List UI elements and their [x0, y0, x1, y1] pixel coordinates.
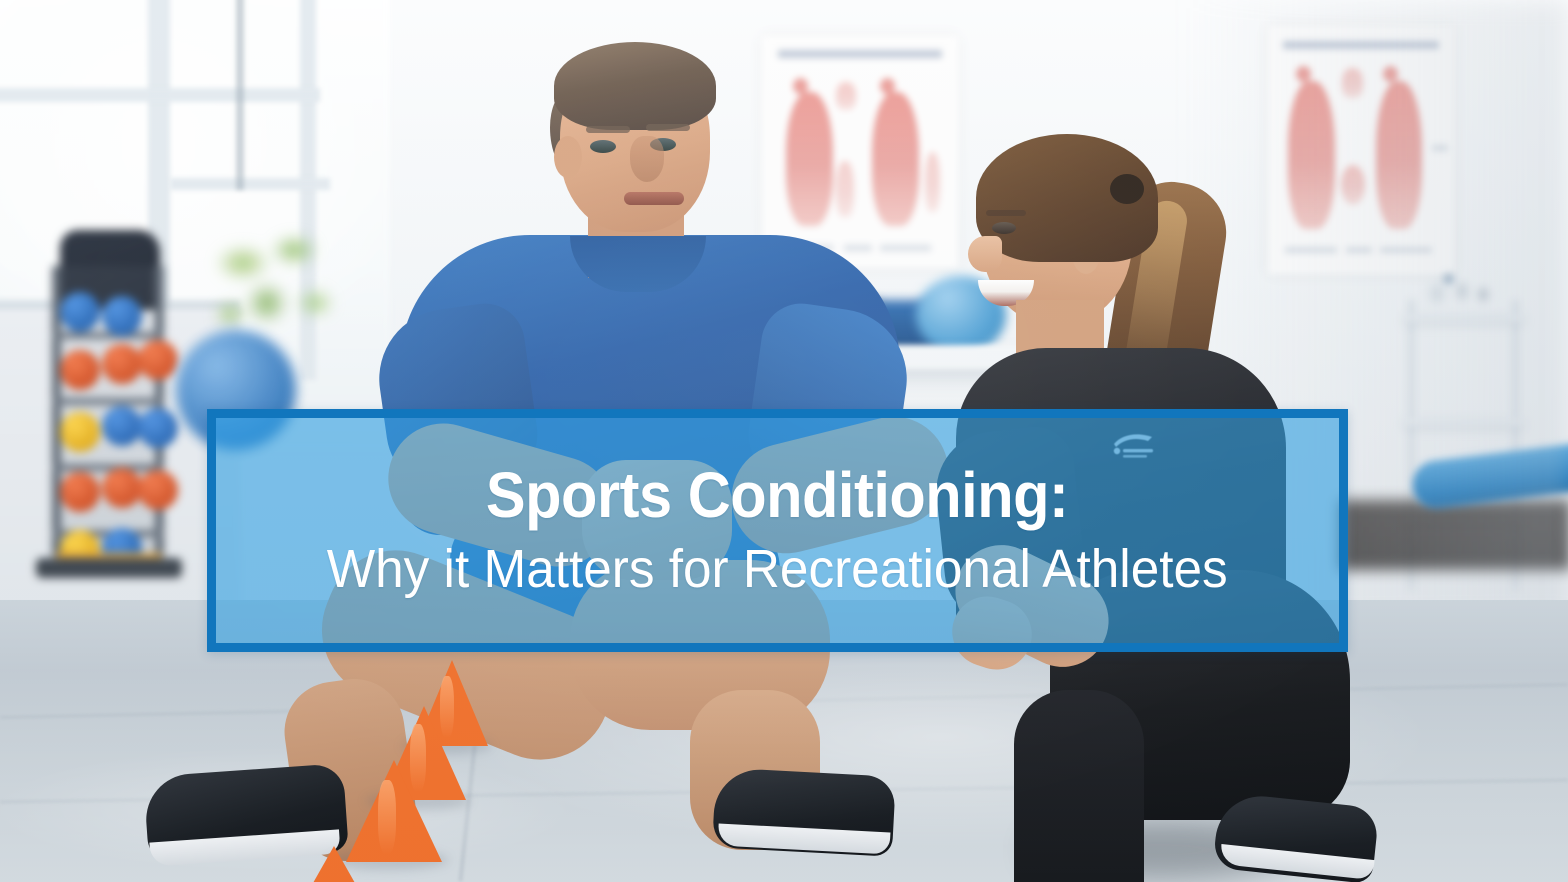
banner-subtitle: Why it Matters for Recreational Athletes: [327, 541, 1228, 598]
banner-title: Sports Conditioning:: [486, 463, 1068, 527]
hero-banner-image: Sports Conditioning: Why it Matters for …: [0, 0, 1568, 882]
title-banner: Sports Conditioning: Why it Matters for …: [207, 409, 1348, 652]
